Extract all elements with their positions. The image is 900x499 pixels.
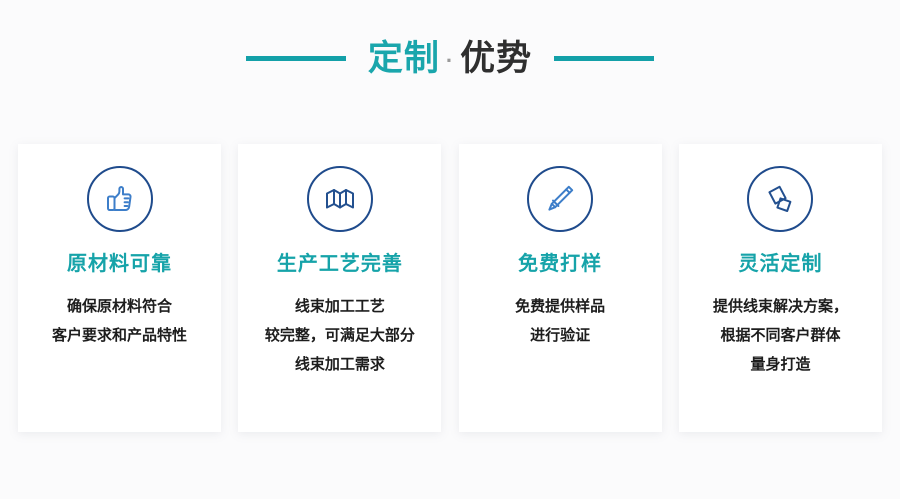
thumbs-up-icon xyxy=(103,182,137,216)
feature-card-body: 线束加工工艺 较完整，可满足大部分 线束加工需求 xyxy=(257,292,423,379)
advantages-section: 定制 · 优势 原材料可靠 确保原 xyxy=(0,0,900,499)
pencil-icon xyxy=(543,182,577,216)
feature-card[interactable]: 灵活定制 提供线束解决方案， 根据不同客户群体 量身打造 xyxy=(679,144,882,432)
icon-circle xyxy=(747,166,813,232)
page-title-separator: · xyxy=(440,50,460,72)
feature-card-body-line: 线束加工需求 xyxy=(265,350,415,379)
feature-card-body-line: 量身打造 xyxy=(713,350,848,379)
feature-card-title: 生产工艺完善 xyxy=(277,252,403,276)
folded-map-icon xyxy=(323,182,357,216)
feature-card-body: 确保原材料符合 客户要求和产品特性 xyxy=(44,292,195,350)
feature-card-body-line: 提供线束解决方案， xyxy=(713,292,848,321)
feature-card-body-line: 根据不同客户群体 xyxy=(713,321,848,350)
page-title-main: 优势 xyxy=(460,41,532,76)
feature-card-title: 灵活定制 xyxy=(738,252,822,276)
feature-card-body-line: 较完整，可满足大部分 xyxy=(265,321,415,350)
feature-card-title: 免费打样 xyxy=(518,252,602,276)
stacked-cards-icon xyxy=(763,182,797,216)
feature-card-list: 原材料可靠 确保原材料符合 客户要求和产品特性 生产工艺完善 xyxy=(18,144,882,432)
icon-circle xyxy=(87,166,153,232)
feature-card-body-line: 线束加工工艺 xyxy=(265,292,415,321)
feature-card[interactable]: 生产工艺完善 线束加工工艺 较完整，可满足大部分 线束加工需求 xyxy=(238,144,441,432)
heading-rule-right xyxy=(554,56,654,61)
feature-card[interactable]: 原材料可靠 确保原材料符合 客户要求和产品特性 xyxy=(18,144,221,432)
feature-card-body-line: 确保原材料符合 xyxy=(52,292,187,321)
feature-card-body-line: 免费提供样品 xyxy=(515,292,605,321)
page-title-accent: 定制 xyxy=(368,41,440,76)
icon-circle xyxy=(307,166,373,232)
heading-rule-left xyxy=(246,56,346,61)
feature-card-body-line: 进行验证 xyxy=(515,321,605,350)
feature-card-body-line: 客户要求和产品特性 xyxy=(52,321,187,350)
feature-card-body: 提供线束解决方案， 根据不同客户群体 量身打造 xyxy=(705,292,856,379)
section-heading: 定制 · 优势 xyxy=(0,30,900,86)
feature-card-title: 原材料可靠 xyxy=(67,252,172,276)
feature-card[interactable]: 免费打样 免费提供样品 进行验证 xyxy=(459,144,662,432)
feature-card-body: 免费提供样品 进行验证 xyxy=(507,292,613,350)
page-title: 定制 · 优势 xyxy=(368,41,532,76)
icon-circle xyxy=(527,166,593,232)
